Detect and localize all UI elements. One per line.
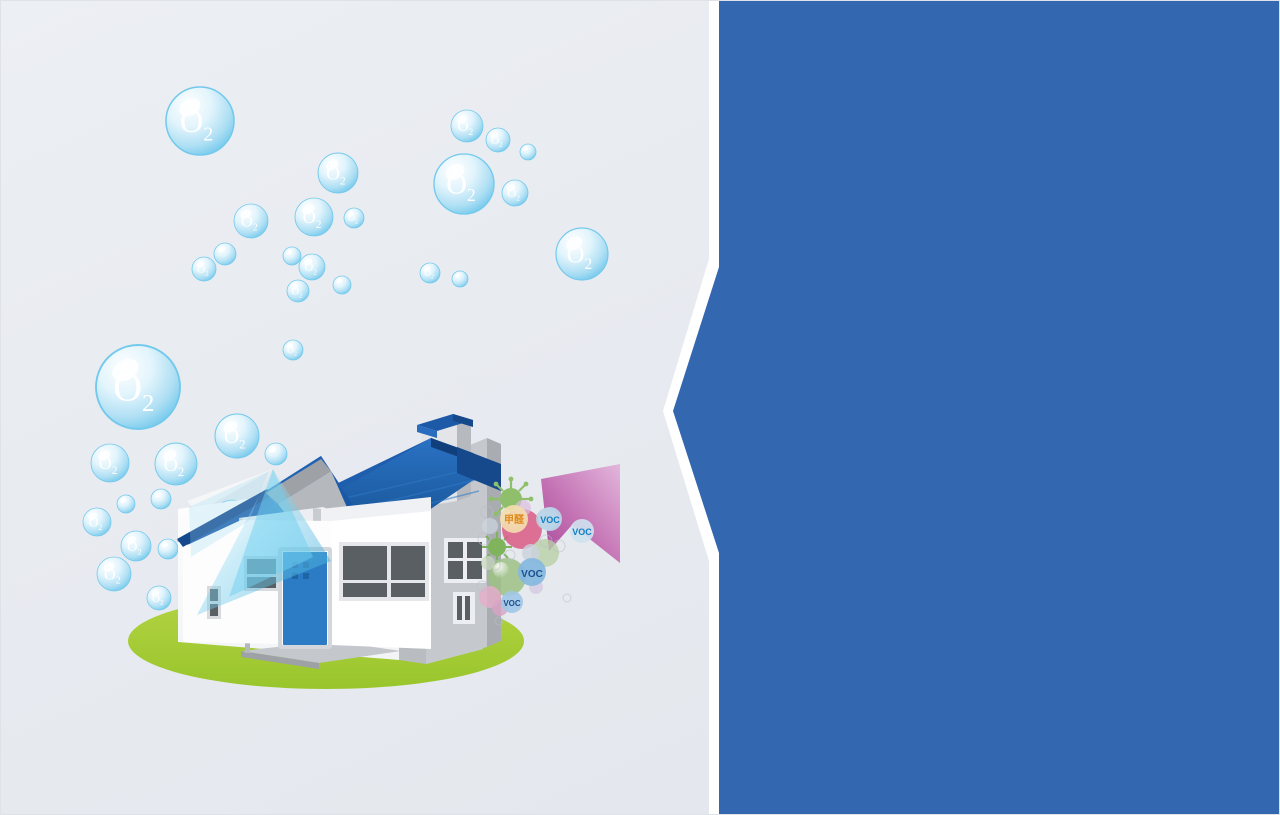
o2-bubble [265, 443, 287, 465]
o2-bubble: O2 [91, 444, 129, 482]
o2-bubble: O2 [234, 204, 268, 238]
o2-bubble: O2 [287, 280, 309, 302]
o2-bubble: O2 [283, 340, 303, 360]
o2-bubble: O2 [83, 508, 111, 536]
house-illustration: O2O2O2O2O2O2O2O2O2O2O2O2O2O2O2O2O2O2O2O2… [1, 1, 721, 815]
pollutant-label-voc-2: VOC [572, 527, 592, 537]
slide-root: O2O2O2O2O2O2O2O2O2O2O2O2O2O2O2O2O2O2O2O2… [0, 0, 1280, 815]
o2-bubble: O2 [215, 414, 259, 458]
caption-panel: 一送一排有序的24小 时换气，给您带来清 新健康的空气 [661, 1, 1280, 815]
o2-bubble [214, 243, 236, 265]
o2-bubble [520, 144, 536, 160]
o2-bubble: O2 [556, 228, 608, 280]
o2-bubble [151, 489, 171, 509]
blue-chevron-panel [661, 1, 1280, 815]
o2-bubble: O2 [434, 154, 494, 214]
o2-bubble: O2 [451, 110, 483, 142]
window-upper-right [444, 538, 486, 583]
pollutant-label-voc-1: VOC [540, 515, 560, 525]
o2-bubble: O2 [299, 254, 325, 280]
o2-bubble: O2 [97, 557, 131, 591]
pollutant-label-voc-3: VOC [521, 569, 543, 580]
pollutant-label-voc-4: VOC [503, 599, 521, 608]
illustration-panel: O2O2O2O2O2O2O2O2O2O2O2O2O2O2O2O2O2O2O2O2… [1, 1, 721, 815]
o2-bubble: O2 [166, 87, 234, 155]
o2-bubble: O2 [121, 531, 151, 561]
window-lower-right [453, 592, 475, 624]
o2-bubble: O2 [295, 198, 333, 236]
window-front-right [339, 542, 429, 601]
o2-bubble: O2 [420, 263, 440, 283]
o2-bubble [333, 276, 351, 294]
o2-bubble [158, 539, 178, 559]
o2-bubble: O2 [155, 443, 197, 485]
o2-bubble [283, 247, 301, 265]
o2-bubble: O2 [192, 257, 216, 281]
o2-bubble [452, 271, 468, 287]
o2-bubble: O2 [486, 128, 510, 152]
pollutant-label-formaldehyde: 甲醛 [504, 513, 525, 526]
o2-bubble [117, 495, 135, 513]
o2-bubble: O2 [344, 208, 364, 228]
o2-bubble: O2 [147, 586, 171, 610]
o2-bubble: O2 [318, 153, 358, 193]
o2-bubble: O2 [502, 180, 528, 206]
o2-bubble: O2 [96, 345, 180, 429]
